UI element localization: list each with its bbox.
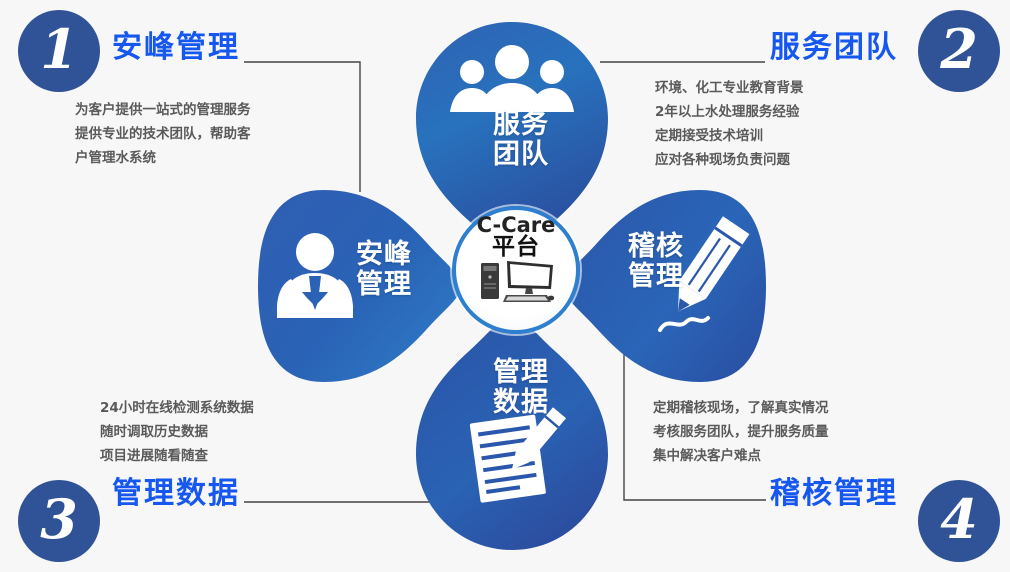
section-body-4: 定期稽核现场，了解真实情况 考核服务团队，提升服务质量 集中解决客户难点: [653, 396, 829, 468]
desktop-computer-icon: [477, 257, 555, 305]
petal-label-right: 稽核 管理: [620, 232, 692, 292]
petal-label-bottom: 管理 数据: [486, 358, 556, 418]
petal-label-top: 服务 团队: [486, 110, 556, 170]
section-heading-1: 安峰管理: [112, 22, 240, 66]
section-body-2: 环境、化工专业教育背景 2年以上水处理服务经验 定期接受技术培训 应对各种现场负…: [655, 76, 804, 172]
center-subtitle: 平台: [492, 235, 540, 259]
badge-number-4[interactable]: 4: [918, 480, 1000, 562]
badge-number-2-text: 2: [940, 22, 978, 76]
badge-number-1-text: 1: [40, 22, 78, 76]
badge-number-1[interactable]: 1: [18, 10, 100, 92]
badge-number-3-text: 3: [40, 492, 78, 546]
petal-bottom[interactable]: [416, 314, 608, 550]
badge-number-2[interactable]: 2: [918, 10, 1000, 92]
petal-label-left: 安峰 管理: [348, 240, 420, 300]
infographic-canvas: 服务 团队 稽核 管理 管理 数据 安峰 管理 C-Care 平台 1 安峰管理…: [0, 0, 1010, 572]
center-hub[interactable]: C-Care 平台: [452, 206, 580, 334]
section-heading-4: 稽核管理: [770, 468, 898, 512]
badge-number-4-text: 4: [940, 492, 978, 546]
badge-number-3[interactable]: 3: [18, 480, 100, 562]
section-heading-2: 服务团队: [770, 22, 898, 66]
center-title: C-Care: [477, 214, 556, 236]
section-body-3: 24小时在线检测系统数据 随时调取历史数据 项目进展随看随查: [100, 396, 254, 468]
section-body-1: 为客户提供一站式的管理服务 提供专业的技术团队，帮助客 户管理水系统: [75, 98, 251, 170]
section-heading-3: 管理数据: [112, 468, 240, 512]
